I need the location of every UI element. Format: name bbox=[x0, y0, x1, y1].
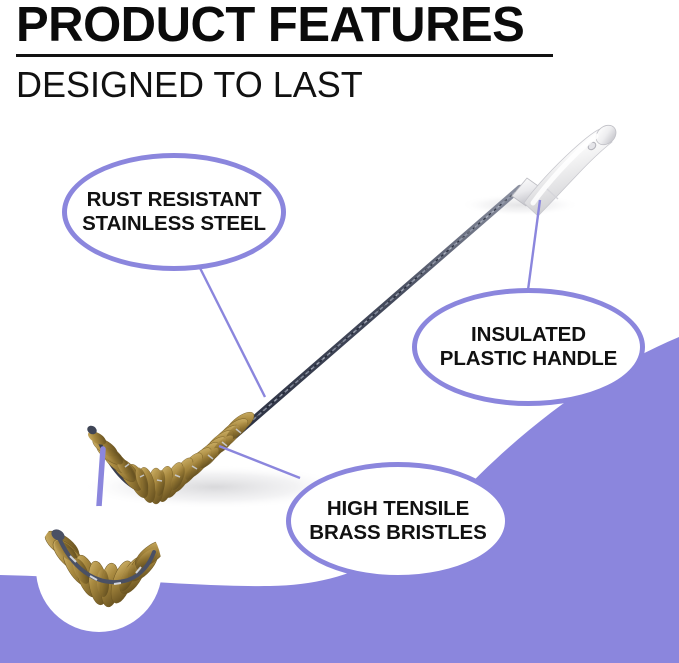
product-features-infographic: PRODUCT FEATURES DESIGNED TO LAST RUST R… bbox=[0, 0, 679, 663]
page-title: PRODUCT FEATURES bbox=[16, 0, 524, 54]
callout-rust-resistant-stainless-steel: RUST RESISTANT STAINLESS STEEL bbox=[62, 153, 286, 271]
callout-line-2: BRASS BRISTLES bbox=[309, 521, 486, 545]
header: PRODUCT FEATURES DESIGNED TO LAST bbox=[0, 0, 679, 115]
title-divider bbox=[16, 54, 553, 57]
page-subtitle: DESIGNED TO LAST bbox=[16, 62, 363, 108]
callout-line-2: STAINLESS STEEL bbox=[82, 212, 266, 236]
callout-line-1: RUST RESISTANT bbox=[87, 188, 262, 212]
callout-line-1: HIGH TENSILE bbox=[327, 497, 469, 521]
callout-insulated-plastic-handle: INSULATED PLASTIC HANDLE bbox=[412, 288, 645, 406]
callout-high-tensile-brass-bristles: HIGH TENSILE BRASS BRISTLES bbox=[286, 462, 510, 580]
callout-line-1: INSULATED bbox=[471, 323, 586, 347]
leader-line-steel bbox=[200, 268, 265, 397]
callout-line-2: PLASTIC HANDLE bbox=[440, 347, 617, 371]
